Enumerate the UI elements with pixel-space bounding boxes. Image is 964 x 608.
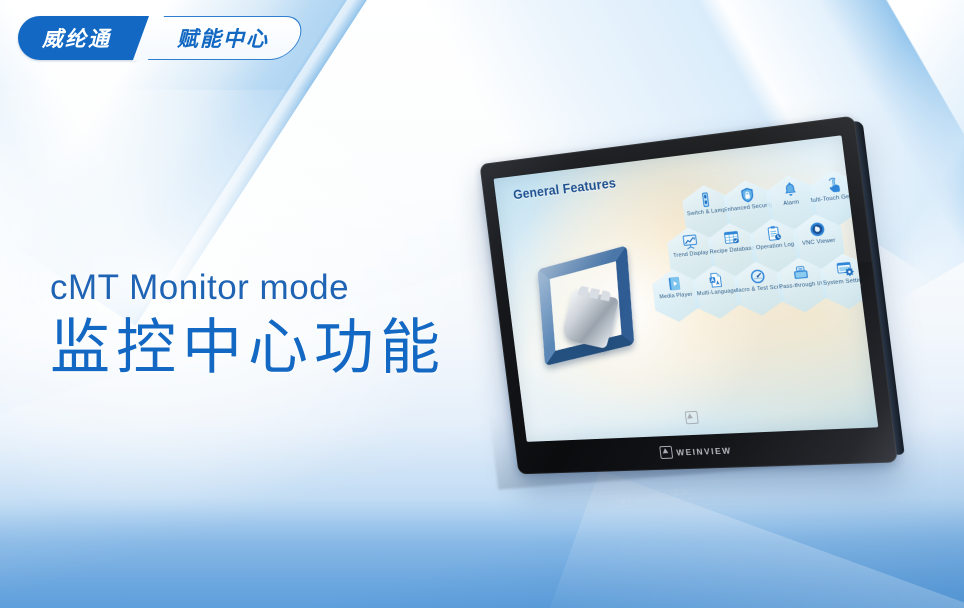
database-table-icon (721, 228, 740, 247)
trend-chart-icon (680, 233, 699, 252)
feature-hex-grid: Switch & LampEnhanced SecurityAlarmMulti… (601, 171, 854, 384)
feature-hex-label: Switch & Lamp (687, 208, 726, 218)
feature-hex-label: Multi-Language (697, 289, 738, 298)
hmi-device-illustration: WEINVIEW General Features Switch & LampE… (452, 118, 922, 548)
touch-hand-icon (824, 176, 844, 196)
weinview-cursor-icon (616, 493, 631, 508)
device-reflection-brand-label: WEINVIEW (634, 487, 692, 504)
brand-badge-primary-label: 威纶通 (42, 23, 111, 53)
device-screen[interactable]: General Features Switch & LampEnhanced S… (494, 135, 879, 442)
slide-canvas: 威纶通 赋能中心 cMT Monitor mode 监控中心功能 WEINVIE… (0, 0, 964, 608)
feature-hex-label: Operation Log (756, 243, 795, 253)
weinview-cursor-icon (684, 411, 698, 424)
feature-hex-label: Media Player (659, 293, 693, 302)
hmi-panel: General Features Switch & LampEnhanced S… (479, 116, 898, 475)
brand-badge-primary: 威纶通 (18, 16, 137, 60)
shield-lock-icon (737, 186, 756, 205)
brand-badge-secondary: 赋能中心 (135, 16, 308, 60)
passthrough-icon (790, 263, 810, 282)
headline-block: cMT Monitor mode 监控中心功能 (50, 268, 446, 384)
device-reflection-brand: WEINVIEW (616, 485, 691, 507)
feature-hex-label: VNC Viewer (802, 239, 836, 249)
brand-badge-secondary-label: 赋能中心 (177, 23, 269, 53)
vnc-eye-icon (807, 220, 827, 239)
feature-hex-label: Enhanced Security (724, 203, 775, 215)
bell-icon (780, 181, 800, 200)
language-doc-icon (706, 271, 725, 290)
gauge-icon (748, 267, 767, 286)
feature-hex-label: Macro & Test Script (733, 285, 786, 296)
media-play-icon (665, 275, 684, 293)
device-brandmark (524, 402, 877, 431)
feature-hex-label: Recipe Database (710, 246, 756, 256)
headline-english: cMT Monitor mode (50, 268, 446, 308)
switch-lamp-icon (696, 190, 715, 209)
device-brand-label: WEINVIEW (676, 445, 732, 457)
clipboard-clock-icon (764, 224, 784, 243)
brand-badge: 威纶通 赋能中心 (18, 16, 300, 60)
headline-chinese: 监控中心功能 (50, 312, 446, 384)
feature-hex-label: Pass-through I/O (779, 282, 826, 292)
feature-hex-label: Alarm (783, 200, 800, 208)
weinview-cursor-icon (659, 446, 673, 459)
window-gear-icon (834, 259, 854, 278)
feature-hex-label: Trend Display (673, 251, 709, 260)
